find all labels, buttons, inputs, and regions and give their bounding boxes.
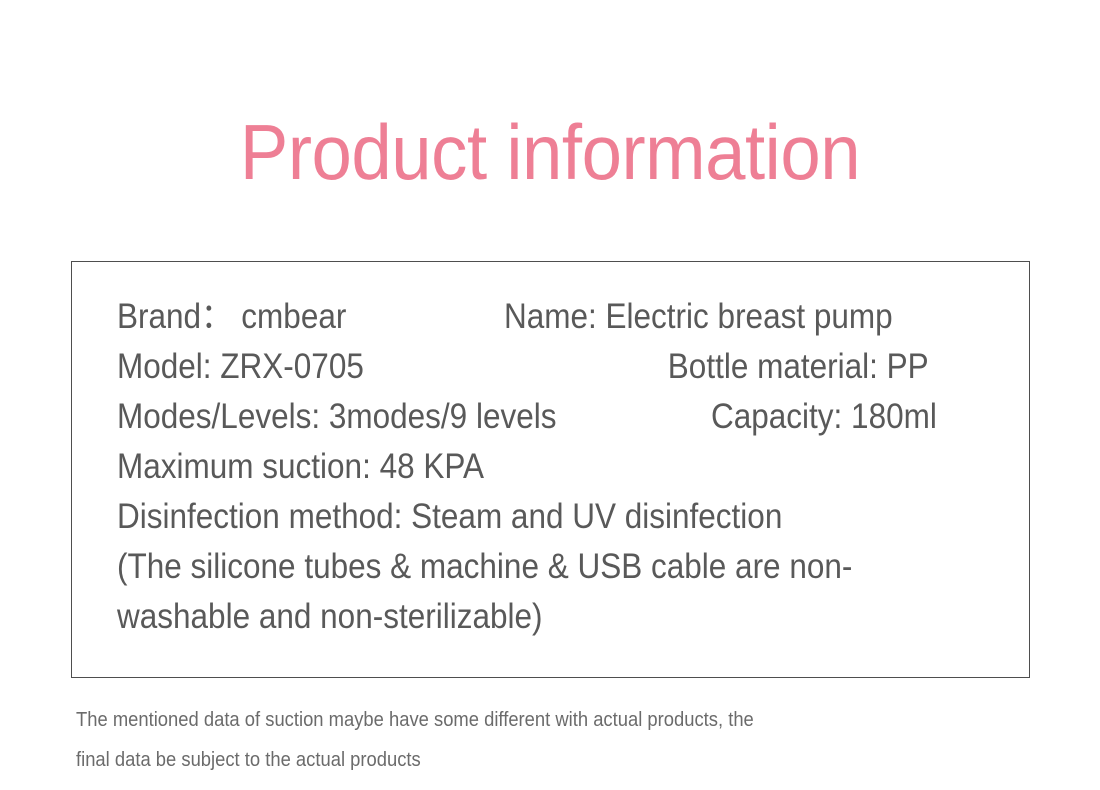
spec-model-label: Model: ZRX-0705 <box>117 342 668 392</box>
spec-non-washable-note-line2: washable and non-sterilizable) <box>117 592 543 642</box>
spec-row-model: Model: ZRX-0705Bottle material: PP <box>117 342 929 392</box>
spec-capacity-label: Capacity: 180ml <box>711 392 937 442</box>
spec-brand-label: Brand： cmbear <box>117 292 504 342</box>
footnote-line-2: final data be subject to the actual prod… <box>76 740 978 780</box>
product-spec-box: Brand： cmbearName: Electric breast pump … <box>71 261 1030 678</box>
spec-non-washable-note-line1: (The silicone tubes & machine & USB cabl… <box>117 542 852 592</box>
product-information-page: { "page": { "title": "Product informatio… <box>0 0 1100 790</box>
footnote-disclaimer: The mentioned data of suction maybe have… <box>76 700 1056 780</box>
spec-disinfection-label: Disinfection method: Steam and UV disinf… <box>117 492 782 542</box>
spec-row-note-part2: washable and non-sterilizable) <box>117 592 929 642</box>
spec-row-modes: Modes/Levels: 3modes/9 levelsCapacity: 1… <box>117 392 929 442</box>
spec-bottle-material-label: Bottle material: PP <box>668 342 929 392</box>
spec-row-disinfection: Disinfection method: Steam and UV disinf… <box>117 492 929 542</box>
footnote-line-1: The mentioned data of suction maybe have… <box>76 700 978 740</box>
spec-list: Brand： cmbearName: Electric breast pump … <box>117 292 1019 642</box>
spec-row-note-part1: (The silicone tubes & machine & USB cabl… <box>117 542 929 592</box>
spec-name-label: Name: Electric breast pump <box>504 292 893 342</box>
spec-row-max-suction: Maximum suction: 48 KPA <box>117 442 929 492</box>
spec-max-suction-label: Maximum suction: 48 KPA <box>117 442 484 492</box>
spec-row-brand: Brand： cmbearName: Electric breast pump <box>117 292 929 342</box>
spec-modes-levels-label: Modes/Levels: 3modes/9 levels <box>117 392 711 442</box>
page-title: Product information <box>39 104 1062 200</box>
